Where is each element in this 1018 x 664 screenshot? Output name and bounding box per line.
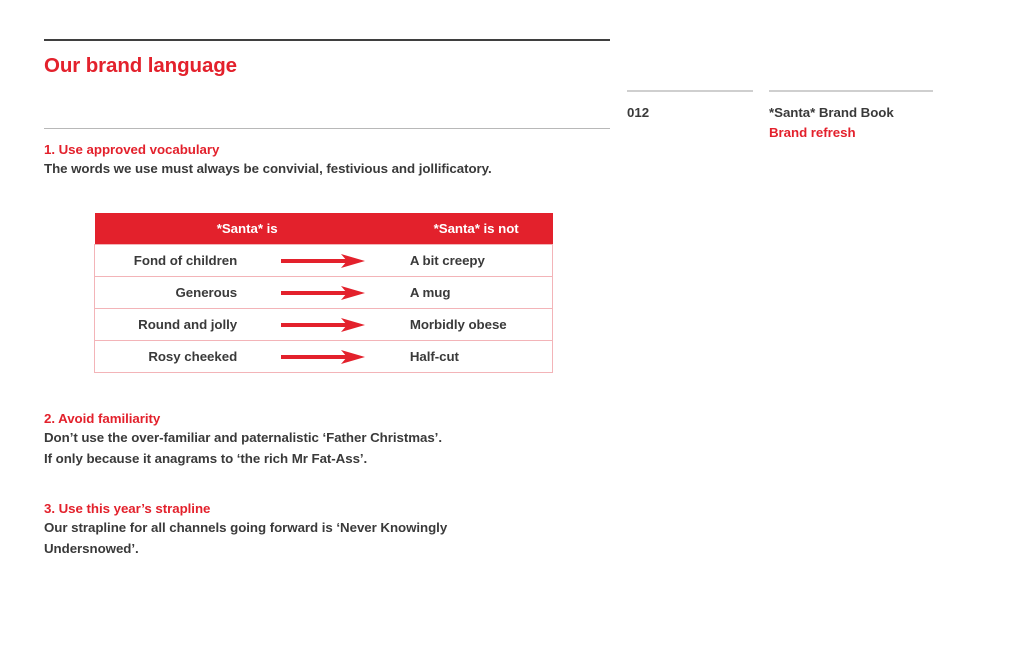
arrow-right-icon — [281, 318, 365, 332]
vocabulary-table: *Santa* is *Santa* is not Fond of childr… — [94, 213, 553, 373]
cell-santa-is-not: Half-cut — [400, 341, 553, 373]
table-column-header-santa-is: *Santa* is — [95, 213, 400, 245]
arrow-right-icon — [281, 350, 365, 364]
cell-santa-is-not: A bit creepy — [400, 245, 553, 277]
section-1-heading: 1. Use approved vocabulary — [44, 140, 610, 159]
section-2-body-line-1: Don’t use the over-familiar and paternal… — [44, 428, 610, 448]
top-rule — [44, 39, 610, 41]
arrow-right-icon — [281, 286, 365, 300]
cell-arrow — [247, 277, 400, 309]
page-number-rule — [627, 90, 753, 92]
table-header-row: *Santa* is *Santa* is not — [95, 213, 553, 245]
cell-arrow — [247, 245, 400, 277]
section-divider-rule — [44, 128, 610, 129]
table-body: Fond of children A bit creepy Generous A… — [95, 245, 553, 373]
cell-santa-is: Round and jolly — [95, 309, 248, 341]
page-title: Our brand language — [44, 55, 610, 78]
section-1-body: The words we use must always be convivia… — [44, 159, 610, 179]
section-2-heading: 2. Avoid familiarity — [44, 409, 610, 428]
section-avoid-familiarity: 2. Avoid familiarity Don’t use the over-… — [44, 409, 610, 469]
left-content-column: Our brand language 1. Use approved vocab… — [44, 0, 610, 179]
section-strapline: 3. Use this year’s strapline Our strapli… — [44, 499, 610, 559]
table-row: Rosy cheeked Half-cut — [95, 341, 553, 373]
cell-santa-is-not: A mug — [400, 277, 553, 309]
page-number: 012 — [627, 103, 753, 123]
book-info-rule — [769, 90, 933, 92]
arrow-right-icon — [281, 254, 365, 268]
table-row: Fond of children A bit creepy — [95, 245, 553, 277]
section-3-body-line-2: Undersnowed’. — [44, 539, 610, 559]
book-subtitle: Brand refresh — [769, 123, 933, 143]
cell-arrow — [247, 341, 400, 373]
cell-santa-is: Generous — [95, 277, 248, 309]
table-column-header-santa-is-not: *Santa* is not — [400, 213, 553, 245]
section-3-heading: 3. Use this year’s strapline — [44, 499, 610, 518]
section-approved-vocabulary: 1. Use approved vocabulary The words we … — [44, 140, 610, 180]
table-row: Generous A mug — [95, 277, 553, 309]
table-row: Round and jolly Morbidly obese — [95, 309, 553, 341]
cell-santa-is-not: Morbidly obese — [400, 309, 553, 341]
section-2-body-line-2: If only because it anagrams to ‘the rich… — [44, 449, 610, 469]
page-number-block: 012 — [627, 90, 753, 123]
lower-sections: 2. Avoid familiarity Don’t use the over-… — [44, 398, 610, 559]
book-info-block: *Santa* Brand Book Brand refresh — [769, 90, 933, 143]
cell-arrow — [247, 309, 400, 341]
section-3-body-line-1: Our strapline for all channels going for… — [44, 518, 610, 538]
cell-santa-is: Fond of children — [95, 245, 248, 277]
cell-santa-is: Rosy cheeked — [95, 341, 248, 373]
book-title: *Santa* Brand Book — [769, 103, 933, 123]
table-head: *Santa* is *Santa* is not — [95, 213, 553, 245]
